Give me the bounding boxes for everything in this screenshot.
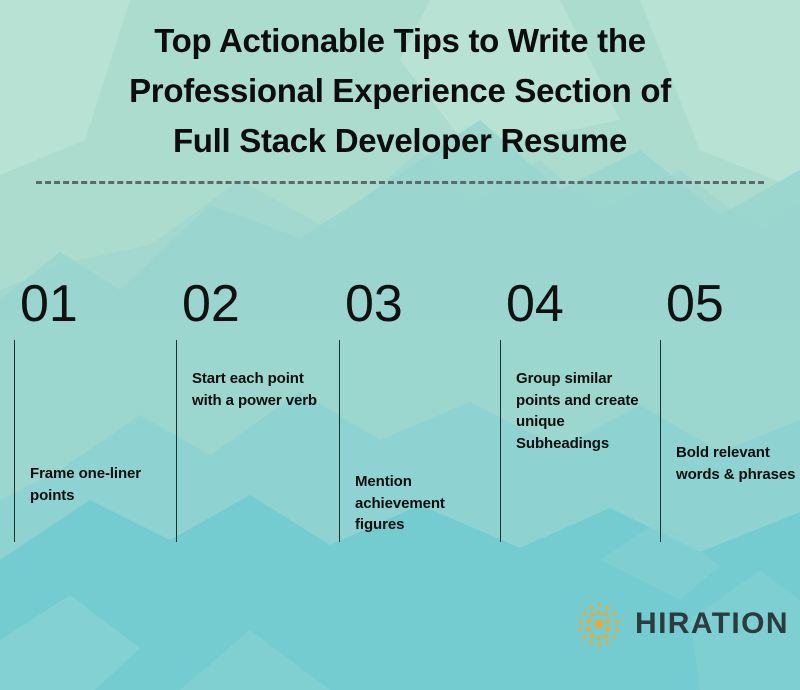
dot-grid-circle-icon — [575, 600, 623, 648]
step-rule-03 — [339, 340, 340, 542]
step-rule-05 — [660, 340, 661, 542]
step-rule-02 — [176, 340, 177, 542]
step-number-01: 01 — [20, 278, 78, 330]
infographic-canvas: Top Actionable Tips to Write the Profess… — [0, 0, 800, 690]
steps-list: 01 Frame one-liner points 02 Start each … — [0, 0, 800, 690]
brand-logo: HIRATION — [575, 600, 789, 648]
step-text-02: Start each point with a power verb — [192, 368, 330, 411]
step-text-05: Bold relevant words & phrases — [676, 442, 800, 485]
brand-name: HIRATION — [635, 609, 789, 639]
step-number-02: 02 — [182, 278, 240, 330]
step-number-05: 05 — [666, 278, 724, 330]
step-text-04: Group similar points and create unique S… — [516, 368, 654, 454]
step-text-03: Mention achievement figures — [355, 471, 493, 536]
step-text-01: Frame one-liner points — [30, 463, 168, 506]
step-rule-04 — [500, 340, 501, 542]
step-number-03: 03 — [345, 278, 403, 330]
step-rule-01 — [14, 340, 15, 542]
step-number-04: 04 — [506, 278, 564, 330]
